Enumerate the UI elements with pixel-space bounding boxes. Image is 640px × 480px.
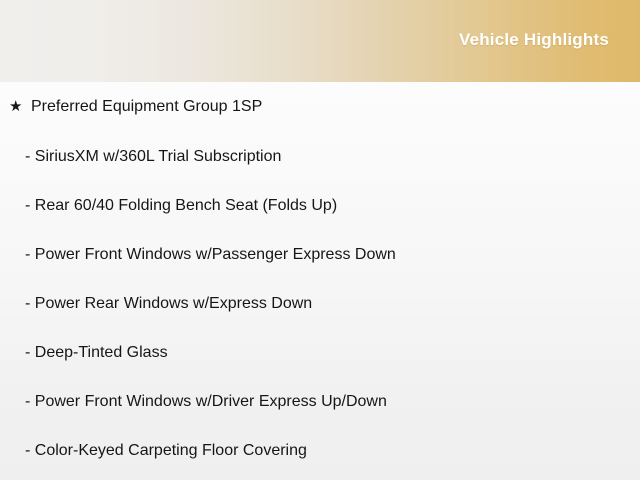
highlights-list: ★Preferred Equipment Group 1SP - SiriusX… — [0, 82, 640, 480]
list-item: - SiriusXM w/360L Trial Subscription — [0, 132, 640, 181]
list-item-label: - Power Front Windows w/Passenger Expres… — [25, 230, 396, 279]
list-item: - Rear 60/40 Folding Bench Seat (Folds U… — [0, 181, 640, 230]
vehicle-highlights-panel: Vehicle Highlights ★Preferred Equipment … — [0, 0, 640, 480]
list-item-label: - Color-Keyed Carpeting Floor Covering — [25, 426, 307, 475]
list-item-label: - SiriusXM w/360L Trial Subscription — [25, 132, 281, 181]
list-item: - Power Rear Windows w/Express Down — [0, 279, 640, 328]
list-item: - Deep-Tinted Glass — [0, 328, 640, 377]
list-item-label: - Power Rear Windows w/Express Down — [25, 279, 312, 328]
page-title: Vehicle Highlights — [459, 30, 609, 50]
list-item-label: - Rear 60/40 Folding Bench Seat (Folds U… — [25, 181, 337, 230]
list-item: - Color-Keyed Carpeting Floor Covering — [0, 426, 640, 475]
star-icon: ★ — [9, 82, 31, 132]
list-item-label: - Power Front Windows w/Driver Express U… — [25, 377, 387, 426]
list-item-label: Preferred Equipment Group 1SP — [31, 82, 262, 132]
list-item: - Power Front Windows w/Driver Express U… — [0, 377, 640, 426]
list-item: ★Preferred Equipment Group 1SP — [0, 82, 640, 132]
panel-header: Vehicle Highlights — [0, 0, 640, 82]
list-item-label: - Deep-Tinted Glass — [25, 328, 168, 377]
list-item: - Power Front Windows w/Passenger Expres… — [0, 230, 640, 279]
